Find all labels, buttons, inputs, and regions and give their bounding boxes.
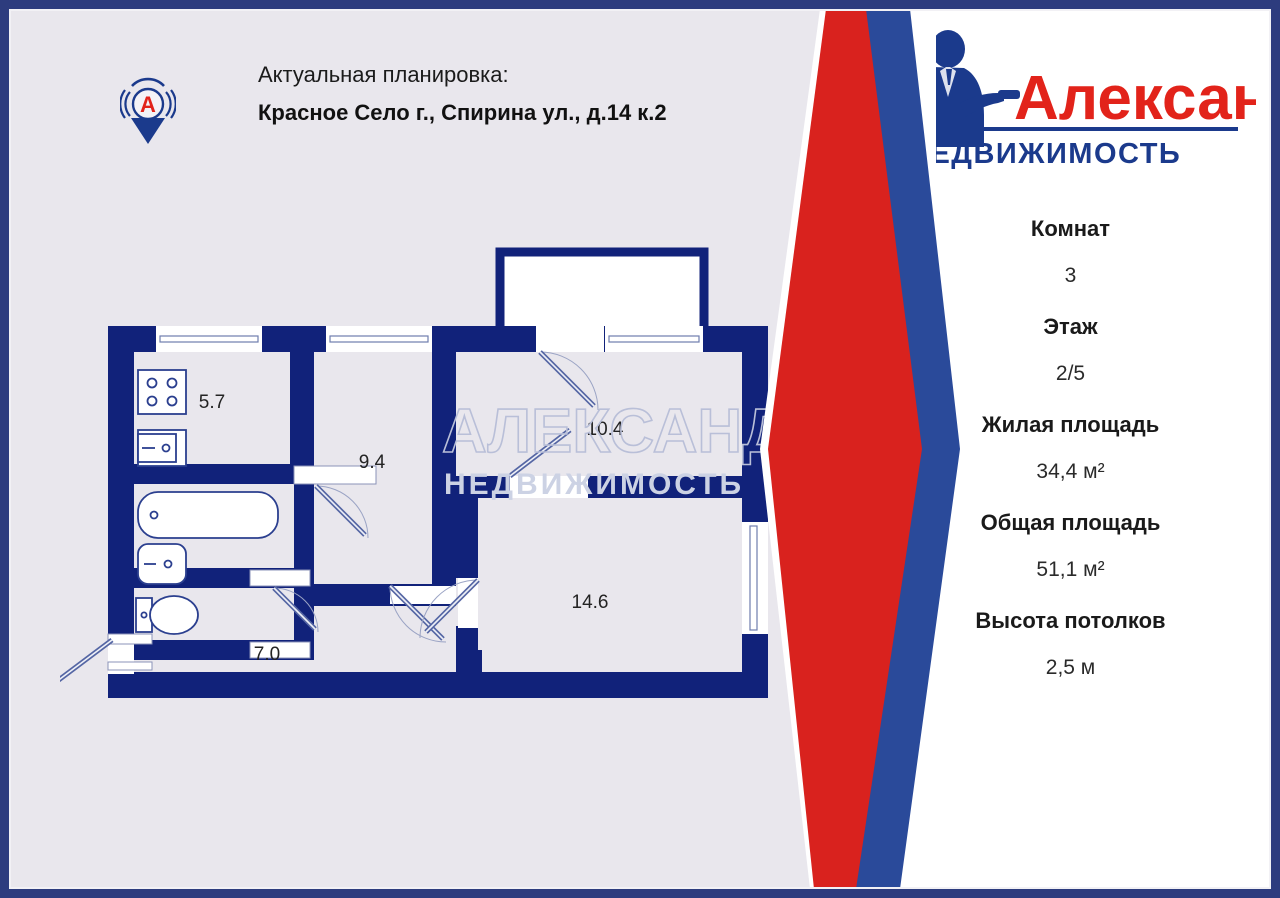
plan-caption: Актуальная планировка: (258, 58, 758, 92)
brand-name: Александр (1014, 64, 1256, 133)
bottom-left-opening (108, 662, 152, 670)
property-address: Красное Село г., Спирина ул., д.14 к.2 (258, 96, 758, 130)
room-area-hallway: 7.0 (254, 644, 280, 665)
kitchen-sink-icon (138, 430, 186, 466)
map-pin-icon: A (120, 66, 176, 146)
room-area-top-right: 10.4 (587, 419, 624, 440)
header-block: A Актуальная планировка: Красное Село г.… (120, 58, 760, 153)
header-text-group: Актуальная планировка: Красное Село г., … (258, 58, 758, 130)
room-area-bottom-right: 14.6 (572, 592, 609, 613)
bathtub-icon (138, 492, 278, 538)
chevron-divider (760, 9, 960, 889)
windows-top (156, 326, 703, 352)
balcony (500, 252, 704, 332)
balcony-door (540, 352, 598, 410)
svg-text:A: A (140, 92, 156, 117)
stove-icon (138, 370, 186, 414)
floor-plan-listing-image: A Актуальная планировка: Красное Село г.… (0, 0, 1280, 898)
washbasin-icon (138, 544, 186, 584)
room-area-left: 9.4 (359, 452, 386, 473)
toilet-icon (136, 596, 198, 634)
floor-plan-drawing: 5.7 9.4 10.4 14.6 7.0 (60, 230, 800, 750)
room-area-kitchen: 5.7 (199, 392, 225, 413)
wall-stub-bottom (456, 650, 482, 676)
